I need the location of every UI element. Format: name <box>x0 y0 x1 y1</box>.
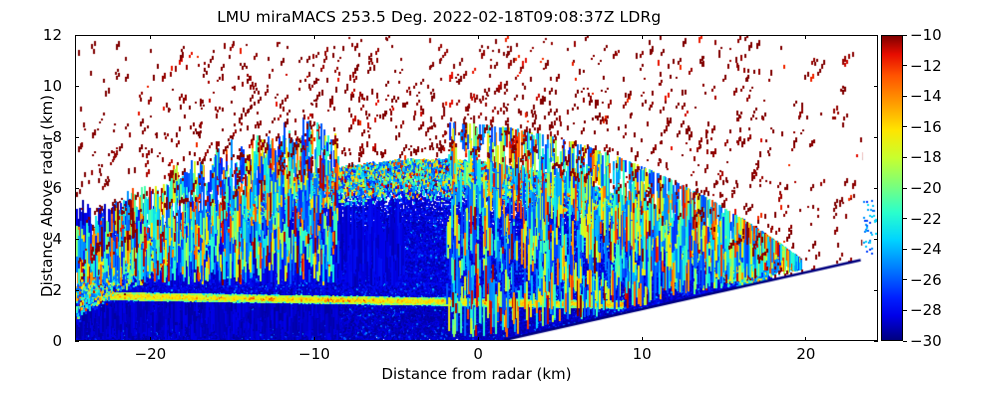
x-tick-label: −20 <box>135 345 167 363</box>
colorbar-gradient <box>881 35 903 341</box>
x-tick-top <box>642 35 643 39</box>
colorbar-tick <box>903 126 907 127</box>
radar-reflectivity-canvas <box>76 36 877 340</box>
y-axis-title: Distance Above radar (km) <box>38 43 56 349</box>
colorbar-title-holder: LDRg (dB) <box>952 35 972 341</box>
y-tick-right <box>874 341 878 342</box>
colorbar-tick-label: −20 <box>910 179 942 197</box>
y-tick <box>75 137 79 138</box>
colorbar-tick-label: −12 <box>910 57 942 75</box>
colorbar-tick <box>903 249 907 250</box>
colorbar-tick-label: −22 <box>910 210 942 228</box>
colorbar-tick <box>903 310 907 311</box>
colorbar-tick <box>903 157 907 158</box>
x-tick <box>642 337 643 341</box>
colorbar-tick-label: −28 <box>910 301 942 319</box>
colorbar-tick <box>903 188 907 189</box>
x-tick <box>478 337 479 341</box>
y-tick-right <box>874 290 878 291</box>
colorbar-tick <box>903 279 907 280</box>
colorbar-tick <box>903 96 907 97</box>
x-tick-top <box>314 35 315 39</box>
colorbar-tick-label: −14 <box>910 87 942 105</box>
colorbar-tick-label: −18 <box>910 148 942 166</box>
x-tick-label: 10 <box>632 345 651 363</box>
y-tick <box>75 290 79 291</box>
y-tick-right <box>874 239 878 240</box>
x-tick <box>314 337 315 341</box>
y-tick <box>75 188 79 189</box>
colorbar-tick <box>903 35 907 36</box>
x-tick-label: 0 <box>473 345 483 363</box>
plot-axes <box>75 35 878 341</box>
colorbar-tick <box>903 218 907 219</box>
y-tick-right <box>874 188 878 189</box>
y-tick <box>75 35 79 36</box>
plot-title: LMU miraMACS 253.5 Deg. 2022-02-18T09:08… <box>0 8 878 26</box>
x-tick-top <box>150 35 151 39</box>
colorbar-tick-label: −24 <box>910 240 942 258</box>
y-tick <box>75 341 79 342</box>
colorbar-tick <box>903 341 907 342</box>
x-tick-label: −10 <box>298 345 330 363</box>
y-tick-right <box>874 35 878 36</box>
y-tick-right <box>874 137 878 138</box>
x-tick-label: 20 <box>796 345 815 363</box>
colorbar-tick-label: −26 <box>910 271 942 289</box>
x-tick <box>150 337 151 341</box>
x-tick-top <box>805 35 806 39</box>
colorbar-tick-label: −30 <box>910 332 942 350</box>
x-tick <box>805 337 806 341</box>
y-tick <box>75 239 79 240</box>
colorbar-tick-label: −16 <box>910 118 942 136</box>
y-tick-right <box>874 86 878 87</box>
y-tick <box>75 86 79 87</box>
colorbar-tick <box>903 65 907 66</box>
x-tick-top <box>478 35 479 39</box>
y-axis-title-holder: Distance Above radar (km) <box>12 35 32 341</box>
radar-rhi-figure: LMU miraMACS 253.5 Deg. 2022-02-18T09:08… <box>0 0 1000 400</box>
colorbar-tick-label: −10 <box>910 26 942 44</box>
x-axis-title: Distance from radar (km) <box>75 365 878 383</box>
